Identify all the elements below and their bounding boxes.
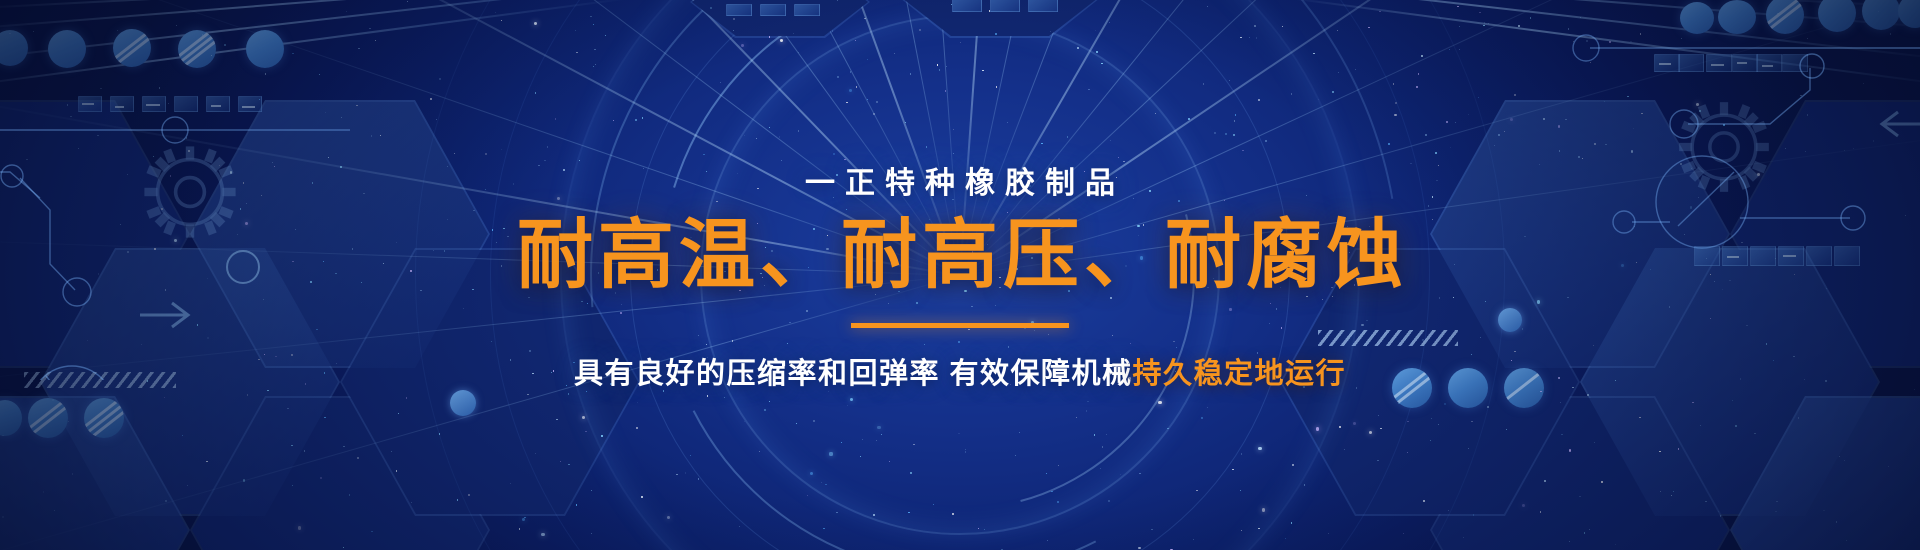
hero-text-block: 一正特种橡胶制品 耐高温、耐高压、耐腐蚀 具有良好的压缩率和回弹率 有效保障机械… xyxy=(0,0,1920,550)
hero-eyebrow: 一正特种橡胶制品 xyxy=(795,158,1125,202)
hero-tagline-accent: 持久稳定地运行 xyxy=(1133,358,1347,390)
hero-tagline: 具有良好的压缩率和回弹率 有效保障机械持久稳定地运行 xyxy=(574,350,1346,392)
hero-headline: 耐高温、耐高压、耐腐蚀 xyxy=(512,216,1408,297)
hero-divider xyxy=(851,323,1069,328)
hero-tagline-plain: 具有良好的压缩率和回弹率 有效保障机械 xyxy=(574,358,1133,390)
hero-banner: // placeholder replaced at runtime 一正特种橡… xyxy=(0,0,1920,550)
